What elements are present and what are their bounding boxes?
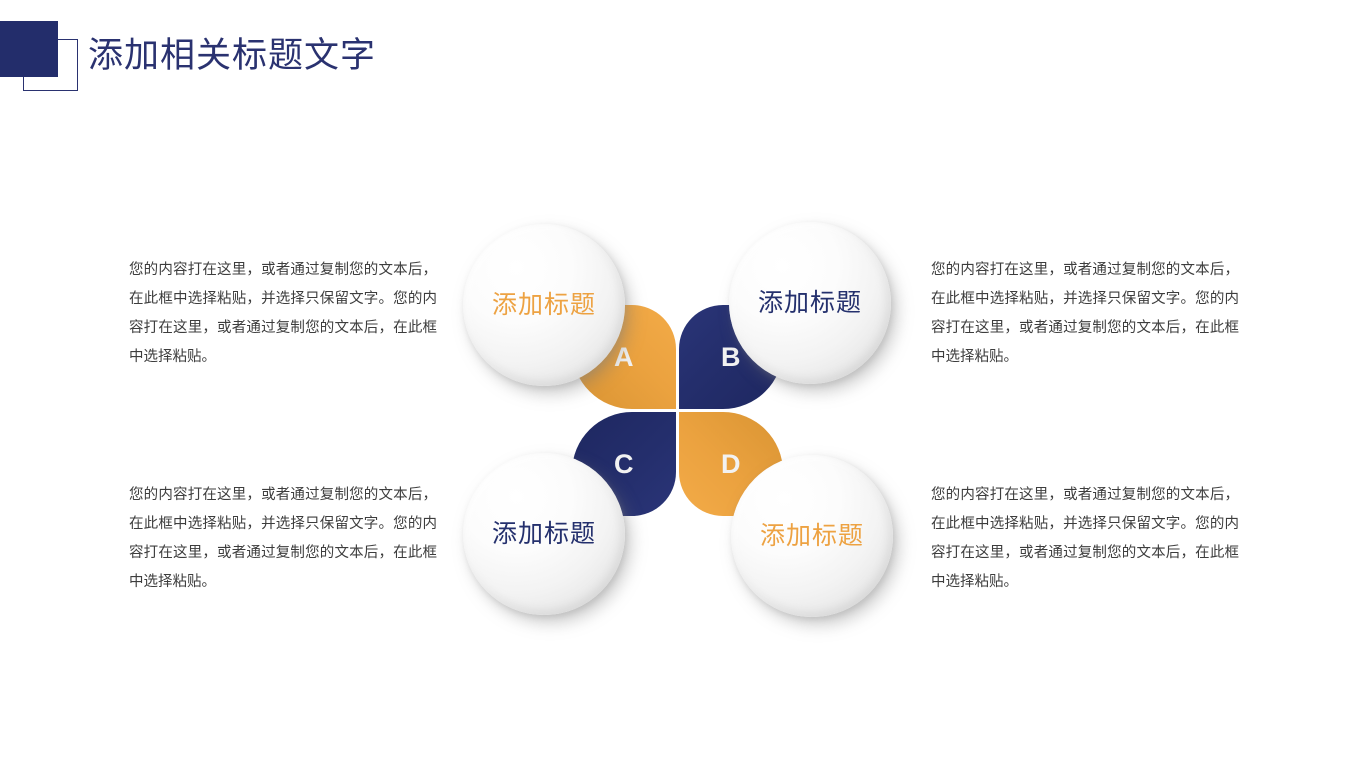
- description-bottom-left: 您的内容打在这里，或者通过复制您的文本后，在此框中选择粘贴，并选择只保留文字。您…: [129, 481, 437, 597]
- bubble-top-left-label: 添加标题: [492, 287, 596, 324]
- title-decoration-filled-square: [0, 21, 58, 77]
- title-decoration: [0, 21, 80, 83]
- bubble-bottom-left-label: 添加标题: [492, 516, 596, 553]
- bubble-bottom-right[interactable]: 添加标题: [731, 455, 893, 617]
- slide-canvas: 添加相关标题文字 您的内容打在这里，或者通过复制您的文本后，在此框中选择粘贴，并…: [0, 0, 1350, 759]
- page-title: 添加相关标题文字: [88, 30, 376, 82]
- bubble-top-right-label: 添加标题: [758, 285, 862, 322]
- description-bottom-right: 您的内容打在这里，或者通过复制您的文本后，在此框中选择粘贴，并选择只保留文字。您…: [931, 481, 1239, 597]
- description-top-left: 您的内容打在这里，或者通过复制您的文本后，在此框中选择粘贴，并选择只保留文字。您…: [129, 256, 437, 372]
- bubble-bottom-left[interactable]: 添加标题: [463, 453, 625, 615]
- bubble-top-left[interactable]: 添加标题: [463, 224, 625, 386]
- bubble-bottom-right-label: 添加标题: [760, 518, 864, 555]
- flower-diagram: A B: [450, 200, 910, 640]
- description-top-right: 您的内容打在这里，或者通过复制您的文本后，在此框中选择粘贴，并选择只保留文字。您…: [931, 256, 1239, 372]
- bubble-top-right[interactable]: 添加标题: [729, 222, 891, 384]
